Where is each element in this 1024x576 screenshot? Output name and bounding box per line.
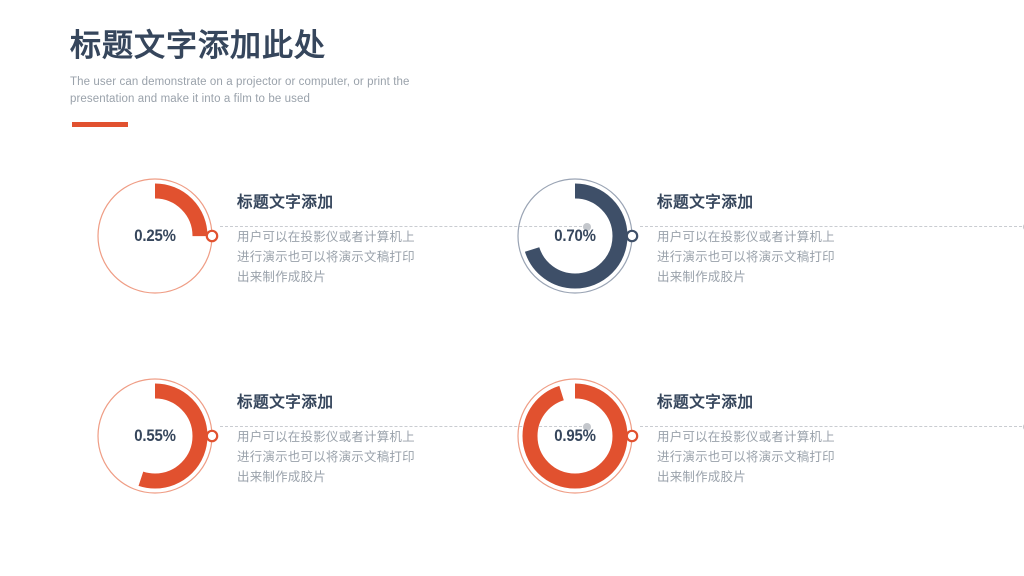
stat-text-3: 标题文字添加 用户可以在投影仪或者计算机上 进行演示也可以将演示文稿打印 出来制… [237, 394, 477, 487]
donut-chart-2: 0.70% [515, 176, 635, 296]
stat-item-4[interactable]: 0.95% 标题文字添加 用户可以在投影仪或者计算机上 进行演示也可以将演示文稿… [515, 376, 975, 546]
donut-chart-1: 0.25% [95, 176, 215, 296]
stat-item-1[interactable]: 0.25% 标题文字添加 用户可以在投影仪或者计算机上 进行演示也可以将演示文稿… [95, 176, 555, 346]
donut-marker-1 [207, 231, 217, 241]
stat-text-2: 标题文字添加 用户可以在投影仪或者计算机上 进行演示也可以将演示文稿打印 出来制… [657, 194, 897, 287]
stat-desc-3-line-2: 进行演示也可以将演示文稿打印 [237, 447, 477, 467]
stat-title-3: 标题文字添加 [237, 394, 477, 413]
stat-desc-2-line-1: 用户可以在投影仪或者计算机上 [657, 227, 897, 247]
stat-desc-4-line-2: 进行演示也可以将演示文稿打印 [657, 447, 897, 467]
donut-marker-4 [627, 431, 637, 441]
donut-chart-4: 0.95% [515, 376, 635, 496]
stat-desc-4-line-3: 出来制作成胶片 [657, 467, 897, 487]
stat-text-1: 标题文字添加 用户可以在投影仪或者计算机上 进行演示也可以将演示文稿打印 出来制… [237, 194, 477, 287]
stat-desc-1-line-2: 进行演示也可以将演示文稿打印 [237, 247, 477, 267]
stat-desc-1-line-3: 出来制作成胶片 [237, 267, 477, 287]
donut-chart-3: 0.55% [95, 376, 215, 496]
stat-desc-2-line-3: 出来制作成胶片 [657, 267, 897, 287]
stat-title-1: 标题文字添加 [237, 194, 477, 213]
stat-title-2: 标题文字添加 [657, 194, 897, 213]
donut-marker-2 [627, 231, 637, 241]
donut-marker-3 [207, 431, 217, 441]
stat-title-4: 标题文字添加 [657, 394, 897, 413]
stat-item-2[interactable]: 0.70% 标题文字添加 用户可以在投影仪或者计算机上 进行演示也可以将演示文稿… [515, 176, 975, 346]
donut-value-3: 0.55% [102, 376, 208, 496]
stat-desc-4-line-1: 用户可以在投影仪或者计算机上 [657, 427, 897, 447]
stat-desc-3: 用户可以在投影仪或者计算机上 进行演示也可以将演示文稿打印 出来制作成胶片 [237, 427, 477, 488]
stat-desc-2: 用户可以在投影仪或者计算机上 进行演示也可以将演示文稿打印 出来制作成胶片 [657, 227, 897, 288]
stat-desc-2-line-2: 进行演示也可以将演示文稿打印 [657, 247, 897, 267]
donut-value-2: 0.70% [522, 176, 628, 296]
stat-desc-3-line-1: 用户可以在投影仪或者计算机上 [237, 427, 477, 447]
donut-value-1: 0.25% [102, 176, 208, 296]
stat-desc-1: 用户可以在投影仪或者计算机上 进行演示也可以将演示文稿打印 出来制作成胶片 [237, 227, 477, 288]
stat-desc-4: 用户可以在投影仪或者计算机上 进行演示也可以将演示文稿打印 出来制作成胶片 [657, 427, 897, 488]
stats-grid: 0.25% 标题文字添加 用户可以在投影仪或者计算机上 进行演示也可以将演示文稿… [0, 0, 1024, 576]
stat-item-3[interactable]: 0.55% 标题文字添加 用户可以在投影仪或者计算机上 进行演示也可以将演示文稿… [95, 376, 555, 546]
stat-desc-1-line-1: 用户可以在投影仪或者计算机上 [237, 227, 477, 247]
donut-value-4: 0.95% [522, 376, 628, 496]
stat-desc-3-line-3: 出来制作成胶片 [237, 467, 477, 487]
stat-text-4: 标题文字添加 用户可以在投影仪或者计算机上 进行演示也可以将演示文稿打印 出来制… [657, 394, 897, 487]
